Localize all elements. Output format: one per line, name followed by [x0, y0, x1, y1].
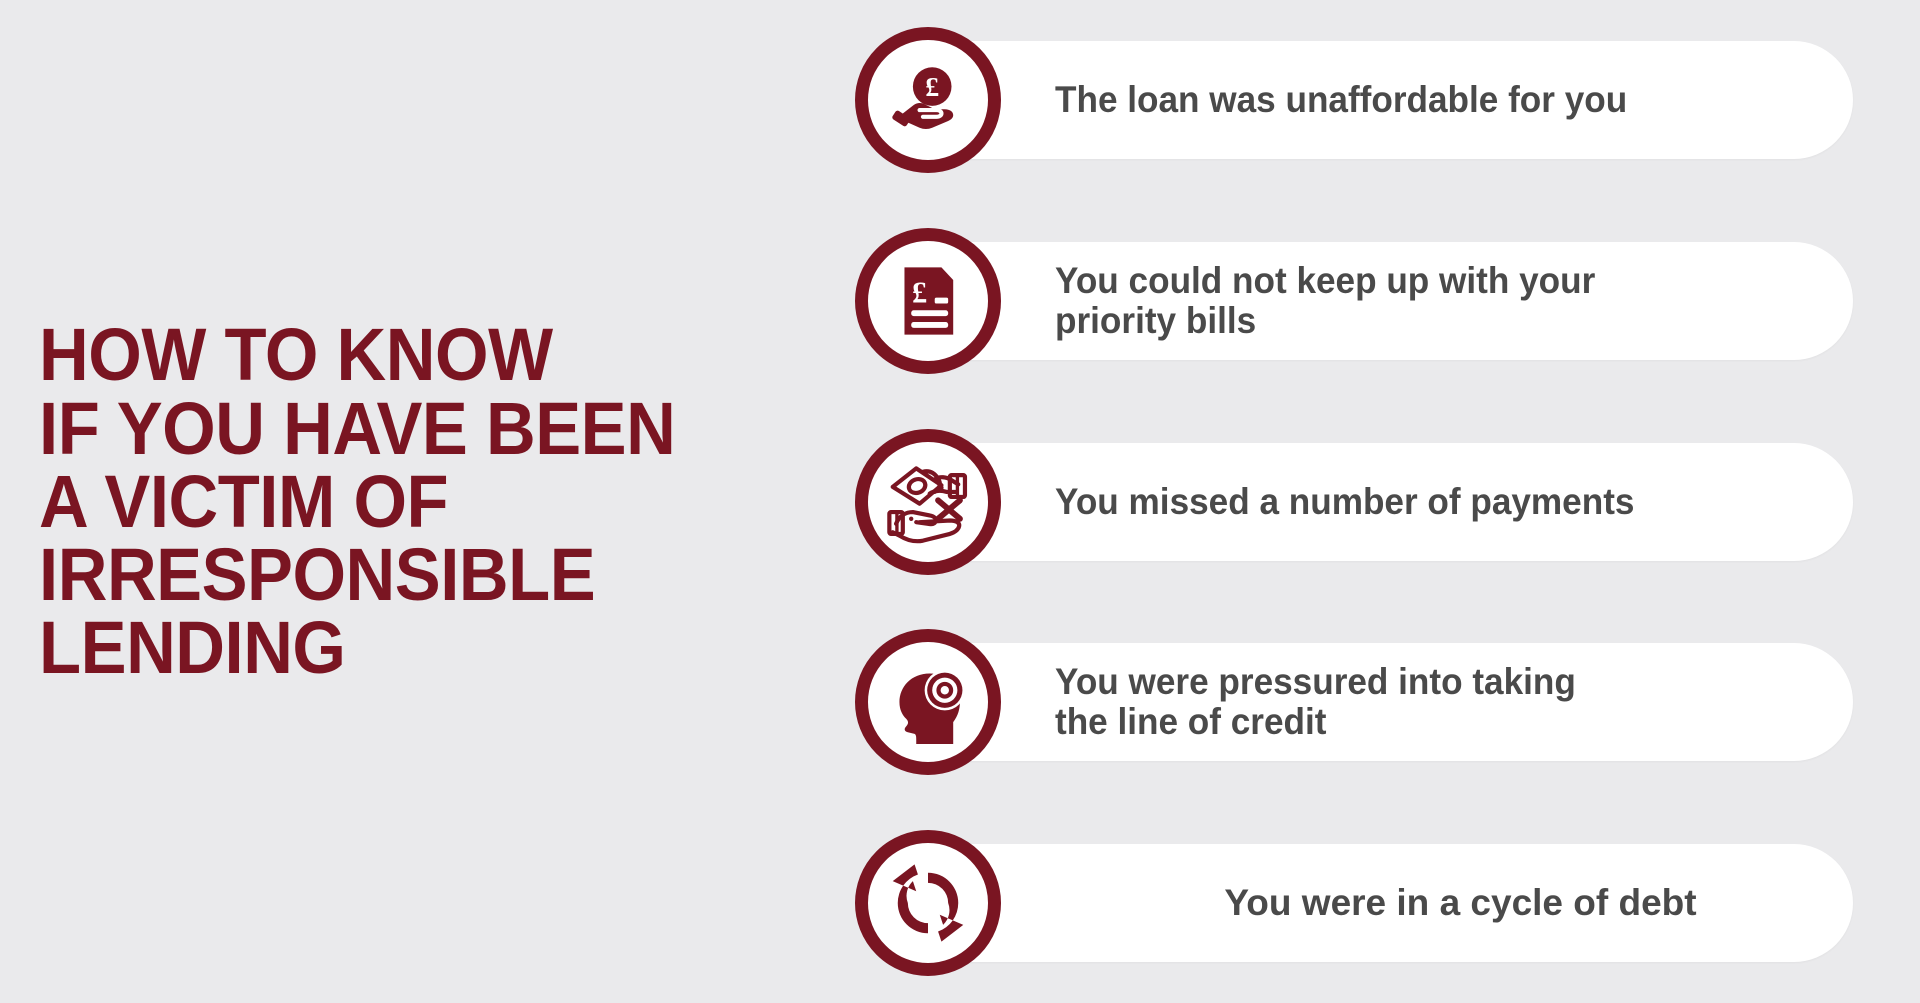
list-item-label: You were in a cycle of debt — [1224, 883, 1696, 923]
list-item[interactable]: You were in a cycle of debt — [840, 829, 1920, 977]
list-item-label: You could not keep up with your priority… — [1055, 261, 1652, 341]
list-item-label: You were pressured into taking the line … — [1055, 662, 1633, 742]
checklist: £ The loan was unaffordable for you £ — [840, 0, 1920, 1003]
cycle-arrows-icon — [855, 830, 1001, 976]
page-title: HOW TO KNOW IF YOU HAVE BEEN A VICTIM OF… — [0, 318, 675, 684]
infographic-poster: HOW TO KNOW IF YOU HAVE BEEN A VICTIM OF… — [0, 0, 1920, 1003]
headline-column: HOW TO KNOW IF YOU HAVE BEEN A VICTIM OF… — [0, 0, 840, 1003]
list-item[interactable]: £ You could not keep up with your priori… — [840, 227, 1920, 375]
list-item-label: You missed a number of payments — [1055, 482, 1691, 522]
list-item-label: The loan was unaffordable for you — [1055, 80, 1684, 120]
svg-text:£: £ — [912, 275, 927, 309]
list-item[interactable]: £ The loan was unaffordable for you — [840, 26, 1920, 174]
pound-bill-document-icon: £ — [855, 228, 1001, 374]
list-item[interactable]: You missed a number of payments — [840, 428, 1920, 576]
money-exchange-declined-icon — [855, 429, 1001, 575]
list-item[interactable]: You were pressured into taking the line … — [840, 628, 1920, 776]
hand-holding-pound-coin-icon: £ — [855, 27, 1001, 173]
svg-text:£: £ — [925, 71, 939, 102]
head-target-icon — [855, 629, 1001, 775]
